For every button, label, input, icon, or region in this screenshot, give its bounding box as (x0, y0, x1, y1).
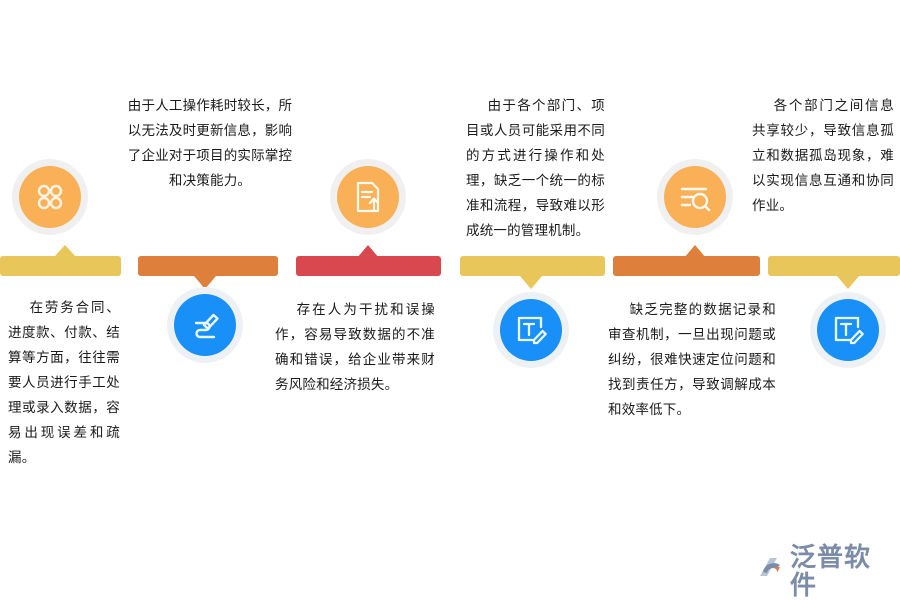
icon-disc-2 (174, 294, 236, 356)
segment-text-6: 各个部门之间信息共享较少，导致信息孤立和数据孤岛现象，难以实现信息互通和协同作业… (752, 93, 894, 218)
icon-disc-6 (817, 299, 879, 361)
icon-disc-5 (664, 166, 726, 228)
icon-disc-4 (500, 299, 562, 361)
icon-bubble-3[interactable] (330, 159, 406, 235)
notch-down-icon-6 (837, 276, 859, 289)
document-upload-icon (350, 179, 386, 215)
notch-down-icon-4 (520, 276, 542, 289)
notch-up-icon-1 (54, 245, 76, 257)
timeline-bar-4 (460, 256, 605, 276)
fanpu-swoosh-logo-icon (757, 554, 787, 589)
icon-disc-1 (19, 166, 81, 228)
list-search-icon (677, 179, 713, 215)
fanpu-logo: 泛普软件 www.fanpusoft.com (757, 543, 897, 593)
infographic-canvas: 在劳务合同、进度款、付款、结算等方面，往往需要人员进行手工处理或录入数据，容易出… (0, 0, 900, 600)
icon-bubble-6[interactable] (810, 292, 886, 368)
icon-disc-3 (337, 166, 399, 228)
segment-text-2: 由于人工操作耗时较长，所以无法及时更新信息，影响了企业对于项目的实际掌控和决策能… (122, 93, 298, 193)
segment-text-5: 缺乏完整的数据记录和审查机制，一旦出现问题或纠纷，很难快速定位问题和找到责任方，… (608, 297, 776, 422)
logo-name: 泛普软件 (790, 543, 897, 599)
timeline-bar-6 (768, 256, 900, 276)
icon-bubble-4[interactable] (493, 292, 569, 368)
text-edit-icon (831, 313, 865, 347)
timeline-bar-3 (296, 256, 441, 276)
icon-bubble-2[interactable] (167, 287, 243, 363)
timeline-bar-2 (138, 256, 278, 276)
icon-bubble-1[interactable] (12, 159, 88, 235)
icon-bubble-5[interactable] (657, 159, 733, 235)
segment-text-3: 存在人为干扰和误操作，容易导致数据的不准确和错误，给企业带来财务风险和经济损失。 (275, 297, 435, 397)
pencil-write-icon (187, 307, 223, 343)
notch-up-icon-3 (357, 245, 379, 258)
segment-text-1: 在劳务合同、进度款、付款、结算等方面，往往需要人员进行手工处理或录入数据，容易出… (8, 295, 120, 470)
timeline-bar-5 (613, 256, 760, 276)
text-edit-icon (514, 313, 548, 347)
timeline-bar-1 (0, 256, 121, 276)
notch-up-icon-5 (684, 245, 706, 258)
four-dots-grid-icon (33, 180, 67, 214)
segment-text-4: 由于各个部门、项目或人员可能采用不同的方式进行操作和处理，缺乏一个统一的标准和流… (466, 93, 605, 243)
